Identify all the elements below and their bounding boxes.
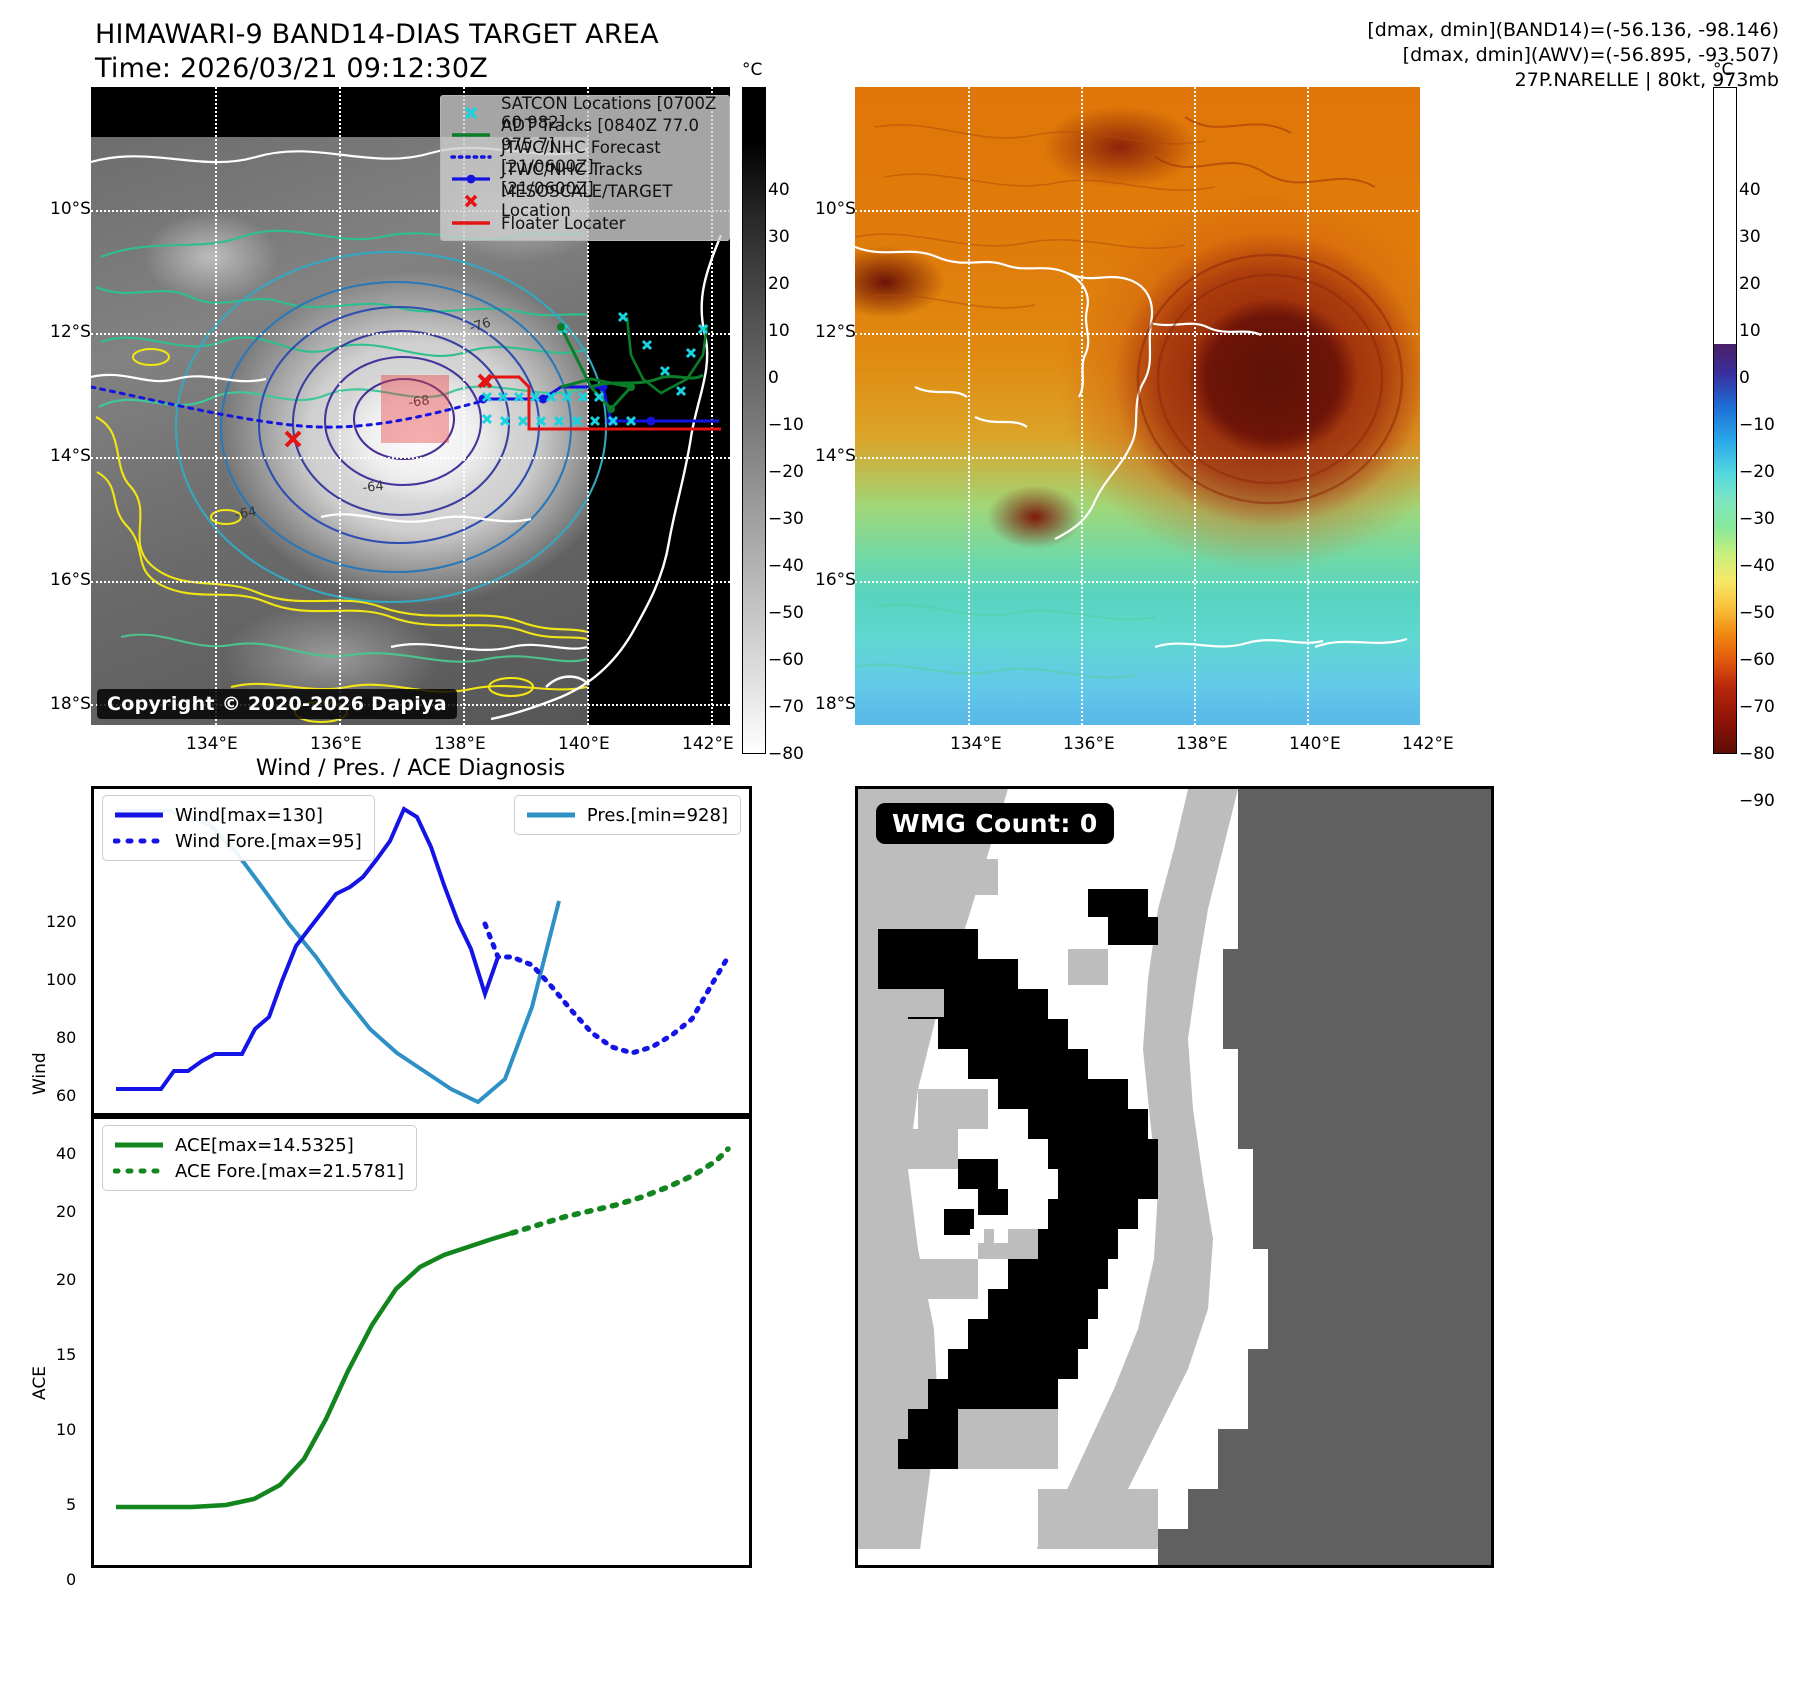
ace-ytick: 20 (56, 1270, 76, 1289)
ir-xtick: 136°E (310, 734, 362, 754)
awv-texture (855, 87, 1494, 725)
solid-line-icon (111, 1139, 167, 1151)
ace-ytick: 5 (66, 1495, 76, 1514)
wind-ytick: 80 (56, 1028, 76, 1047)
legend-label: ACE Fore.[max=21.5781] (175, 1161, 404, 1182)
ir-cb-tick: 40 (768, 180, 790, 200)
awv-cb-tick: −40 (1739, 556, 1775, 576)
awv-xtick: 142°E (1402, 734, 1454, 754)
ir-cb-tick: 30 (768, 227, 790, 247)
awv-gridline-h (855, 581, 1494, 583)
ace-ytick: 0 (66, 1570, 76, 1589)
ir-ytick: 18°S (50, 694, 91, 714)
awv-satellite-panel[interactable] (855, 87, 1494, 725)
awv-gridline-v (1307, 87, 1309, 725)
legend-row-ace: ACE[max=14.5325] (111, 1132, 404, 1158)
wind-axis-label: Wind (30, 1052, 50, 1095)
ir-ytick: 12°S (50, 322, 91, 342)
dmax-dmin-band14: [dmax, dmin](BAND14)=(-56.136, -98.146) (1367, 18, 1779, 43)
wind-chart-title: Wind / Pres. / ACE Diagnosis (91, 756, 730, 781)
ace-chart[interactable]: ACE[max=14.5325] ACE Fore.[max=21.5781] (91, 1116, 752, 1568)
ir-ytick: 16°S (50, 570, 91, 590)
legend-label: Wind Fore.[max=95] (175, 831, 362, 852)
awv-ytick: 18°S (815, 694, 856, 714)
wind-ytick: 60 (56, 1086, 76, 1105)
wmg-count-badge: WMG Count: 0 (876, 803, 1114, 844)
awv-colorbar-unit: °C (1713, 60, 1733, 80)
solid-line-icon (449, 130, 493, 140)
dotted-line-icon (111, 1165, 167, 1177)
copyright-label: Copyright © 2020-2026 Dapiya (97, 689, 457, 719)
wind-ytick: 20 (56, 1202, 76, 1221)
ir-cb-tick: −40 (768, 556, 804, 576)
awv-cb-tick: 20 (1739, 274, 1761, 294)
awv-ytick: 10°S (815, 199, 856, 219)
ir-cb-tick: −70 (768, 697, 804, 717)
ir-colorbar-unit: °C (742, 60, 762, 80)
awv-cb-tick: −50 (1739, 603, 1775, 623)
ir-ytick: 10°S (50, 199, 91, 219)
awv-ytick: 12°S (815, 322, 856, 342)
ir-cb-tick: 10 (768, 321, 790, 341)
ace-forecast-line (512, 1149, 728, 1233)
awv-gridline-v (968, 87, 970, 725)
ir-cb-tick: −10 (768, 415, 804, 435)
legend-row-mesoscale: MESOSCALE/TARGET Location (449, 190, 719, 212)
awv-gridline-v (1420, 87, 1422, 725)
ir-legend: SATCON Locations [0700Z 60 982] ADT Trac… (440, 95, 730, 241)
header-stats: [dmax, dmin](BAND14)=(-56.136, -98.146) … (1367, 18, 1779, 93)
awv-cb-tick: 40 (1739, 180, 1761, 200)
title-line-1: HIMAWARI-9 BAND14-DIAS TARGET AREA (95, 18, 659, 52)
awv-xtick: 140°E (1289, 734, 1341, 754)
legend-row-ace-forecast: ACE Fore.[max=21.5781] (111, 1158, 404, 1184)
awv-cb-tick: −90 (1739, 791, 1775, 811)
awv-xtick: 136°E (1063, 734, 1115, 754)
awv-gridline-h (855, 333, 1494, 335)
legend-row-wind: Wind[max=130] (111, 802, 362, 828)
ace-ytick: 10 (56, 1420, 76, 1439)
awv-cb-tick: −60 (1739, 650, 1775, 670)
legend-label: Floater Locater (501, 214, 626, 233)
title-line-2: Time: 2026/03/21 09:12:30Z (95, 52, 659, 86)
awv-xtick: 138°E (1176, 734, 1228, 754)
ir-cb-tick: −60 (768, 650, 804, 670)
awv-cb-tick: −10 (1739, 415, 1775, 435)
ir-cb-tick: 0 (768, 368, 779, 388)
ir-ytick: 14°S (50, 446, 91, 466)
legend-row-pressure: Pres.[min=928] (523, 802, 728, 828)
ir-satellite-panel[interactable]: -76 -68 -64 -64 (91, 87, 730, 725)
ir-cb-tick: −20 (768, 462, 804, 482)
ir-cb-tick: −30 (768, 509, 804, 529)
x-marker-icon (449, 104, 493, 122)
ir-cb-tick: −50 (768, 603, 804, 623)
page-title: HIMAWARI-9 BAND14-DIAS TARGET AREA Time:… (95, 18, 659, 86)
ir-cb-tick: 20 (768, 274, 790, 294)
line-with-dot-icon (449, 173, 493, 185)
legend-label: ACE[max=14.5325] (175, 1135, 354, 1156)
ace-axis-label: ACE (30, 1366, 50, 1400)
wind-legend-right: Pres.[min=928] (514, 795, 741, 835)
legend-label: Wind[max=130] (175, 805, 323, 826)
dotted-line-icon (111, 835, 167, 847)
awv-gridline-v (1194, 87, 1196, 725)
wind-ytick: 40 (56, 1144, 76, 1163)
wind-legend-left: Wind[max=130] Wind Fore.[max=95] (102, 795, 375, 861)
wind-pressure-chart[interactable]: Wind[max=130] Wind Fore.[max=95] Pres.[m… (91, 786, 752, 1116)
awv-cb-tick: −80 (1739, 744, 1775, 764)
ir-xtick: 140°E (558, 734, 610, 754)
awv-cb-tick: 30 (1739, 227, 1761, 247)
ace-solid-line (116, 1233, 512, 1507)
dotted-line-icon (449, 152, 493, 162)
ir-xtick: 134°E (186, 734, 238, 754)
awv-cb-tick: −20 (1739, 462, 1775, 482)
awv-gridline-v (1081, 87, 1083, 725)
solid-line-icon (111, 809, 167, 821)
awv-colorbar-gradient (1713, 87, 1737, 754)
legend-label: Pres.[min=928] (587, 805, 728, 826)
ir-colorbar-gradient (742, 87, 766, 754)
ir-xtick: 142°E (682, 734, 734, 754)
wmg-map (858, 789, 1491, 1565)
awv-cb-tick: 0 (1739, 368, 1750, 388)
awv-ytick: 16°S (815, 570, 856, 590)
ir-xtick: 138°E (434, 734, 486, 754)
solid-line-icon (449, 218, 493, 228)
solid-line-icon (523, 809, 579, 821)
target-box (381, 375, 449, 443)
ir-cb-tick: −80 (768, 744, 804, 764)
wind-ytick: 100 (46, 970, 77, 989)
mesoscale-target-marker (286, 432, 300, 446)
x-marker-icon (449, 192, 493, 210)
ace-ytick: 15 (56, 1345, 76, 1364)
awv-cb-tick: −30 (1739, 509, 1775, 529)
wmg-panel[interactable]: WMG Count: 0 (855, 786, 1494, 1568)
wind-ytick: 120 (46, 912, 77, 931)
legend-row-wind-forecast: Wind Fore.[max=95] (111, 828, 362, 854)
ace-legend: ACE[max=14.5325] ACE Fore.[max=21.5781] (102, 1125, 417, 1191)
awv-xtick: 134°E (950, 734, 1002, 754)
awv-cb-tick: 10 (1739, 321, 1761, 341)
awv-gridline-h (855, 210, 1494, 212)
awv-gridline-h (855, 457, 1494, 459)
awv-cb-tick: −70 (1739, 697, 1775, 717)
awv-ytick: 14°S (815, 446, 856, 466)
